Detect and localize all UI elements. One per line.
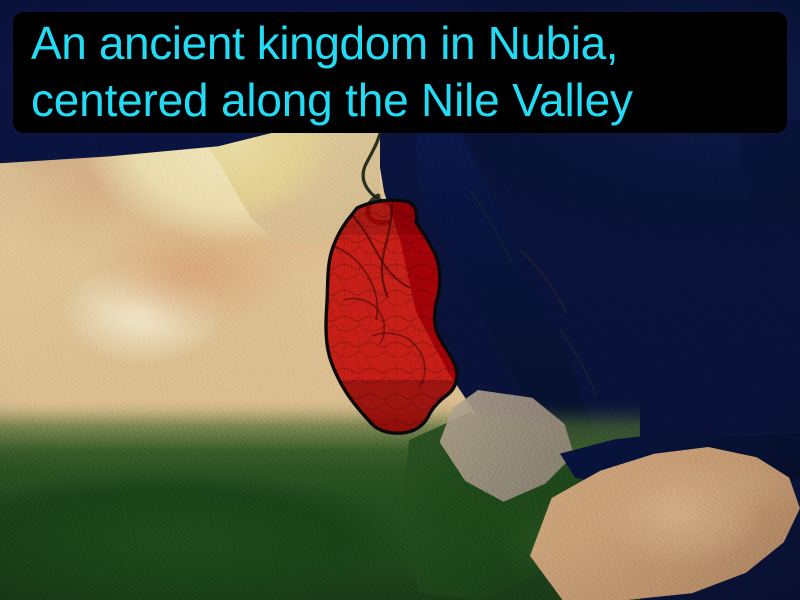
region-terrain-texture xyxy=(320,195,470,442)
caption-line-2: centered along the Nile Valley xyxy=(31,72,769,129)
map-screenshot: An ancient kingdom in Nubia, centered al… xyxy=(0,0,800,600)
caption-line-1: An ancient kingdom in Nubia, xyxy=(31,15,769,72)
caption-banner: An ancient kingdom in Nubia, centered al… xyxy=(13,12,787,133)
